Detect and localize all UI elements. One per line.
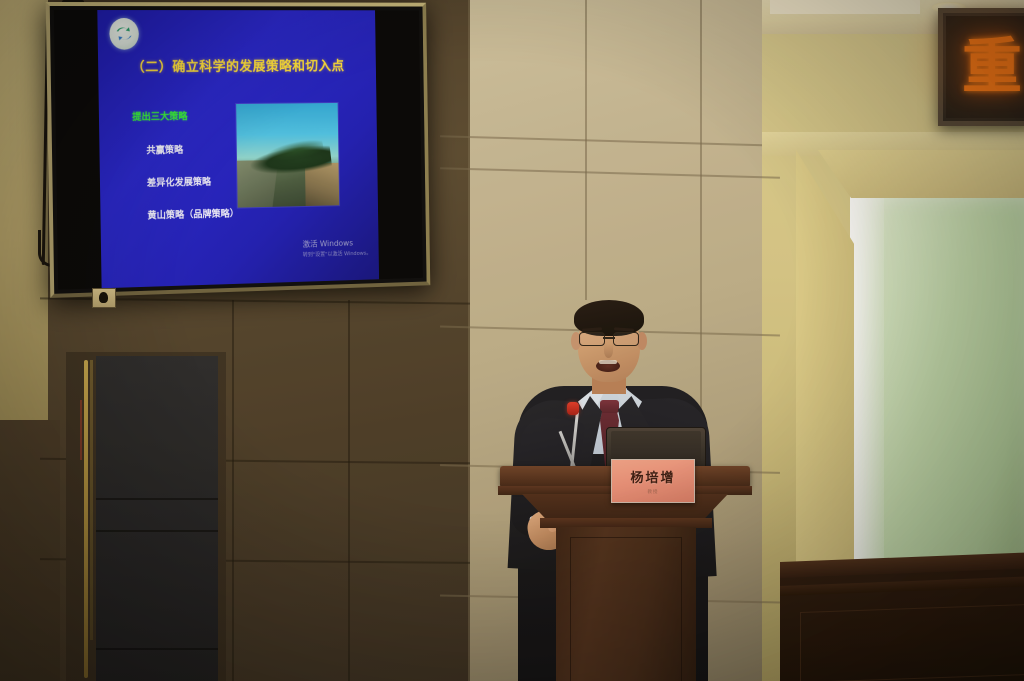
niche-bevel-top — [818, 150, 1024, 198]
nose — [604, 344, 613, 358]
slide-lead-bullet: 提出三大策略 — [132, 108, 187, 122]
wall-seam — [585, 0, 587, 300]
ceiling-recess — [770, 0, 920, 14]
wall-seam — [468, 0, 470, 681]
presentation-scene: 重 （二）确立科学的发展策略和切入点 提出三大策略 共赢策略 差异化发展策略 黄… — [0, 0, 1024, 681]
slide-title: （二）确立科学的发展策略和切入点 — [98, 55, 376, 76]
door-seam — [96, 648, 218, 650]
name-card-text: 杨培增 — [630, 467, 675, 486]
door-seam — [96, 498, 218, 500]
wall-seam — [232, 300, 234, 681]
door-handle[interactable] — [84, 360, 88, 678]
niche-glow — [850, 196, 884, 576]
door-seam — [96, 530, 218, 532]
slide-bullet: 共赢策略 — [146, 142, 183, 156]
watermark-line-1: 激活 Windows — [303, 237, 372, 250]
organization-logo — [109, 18, 139, 50]
wall-outlet[interactable] — [92, 288, 116, 308]
lens-right — [613, 332, 639, 346]
lens-left — [579, 332, 605, 346]
windows-activation-watermark: 激活 Windows 转到"设置"以激活 Windows。 — [303, 237, 372, 258]
wall-mounted-display[interactable]: （二）确立科学的发展策略和切入点 提出三大策略 共赢策略 差异化发展策略 黄山策… — [46, 2, 431, 298]
glasses-bridge — [603, 337, 615, 339]
microphone-icon[interactable] — [567, 402, 579, 415]
slide-photo-huangshan — [236, 103, 339, 208]
far-left-wall-upper — [0, 0, 48, 430]
door-marker — [80, 400, 82, 460]
necktie-knot — [600, 400, 619, 413]
teeth — [599, 360, 617, 364]
led-sign-screen: 重 — [946, 16, 1024, 118]
display-panel: （二）确立科学的发展策略和切入点 提出三大策略 共赢策略 差异化发展策略 黄山策… — [54, 10, 423, 290]
slide-bullet: 差异化发展策略 — [147, 174, 211, 189]
wall-seam — [348, 300, 350, 681]
name-card: 杨培增 教授 — [611, 459, 695, 503]
console-panel — [800, 604, 1024, 681]
slide-bullet: 黄山策略（品牌策略） — [147, 206, 239, 222]
podium-body — [556, 527, 696, 681]
name-card-subtext: 教授 — [648, 489, 659, 495]
door-edge — [90, 360, 93, 640]
led-sign-character: 重 — [962, 37, 1022, 97]
presentation-slide: （二）确立科学的发展策略和切入点 提出三大策略 共赢策略 差异化发展策略 黄山策… — [97, 10, 379, 288]
door-panel[interactable] — [96, 356, 218, 681]
watermark-line-2: 转到"设置"以激活 Windows。 — [303, 249, 372, 259]
led-sign: 重 — [938, 8, 1024, 126]
